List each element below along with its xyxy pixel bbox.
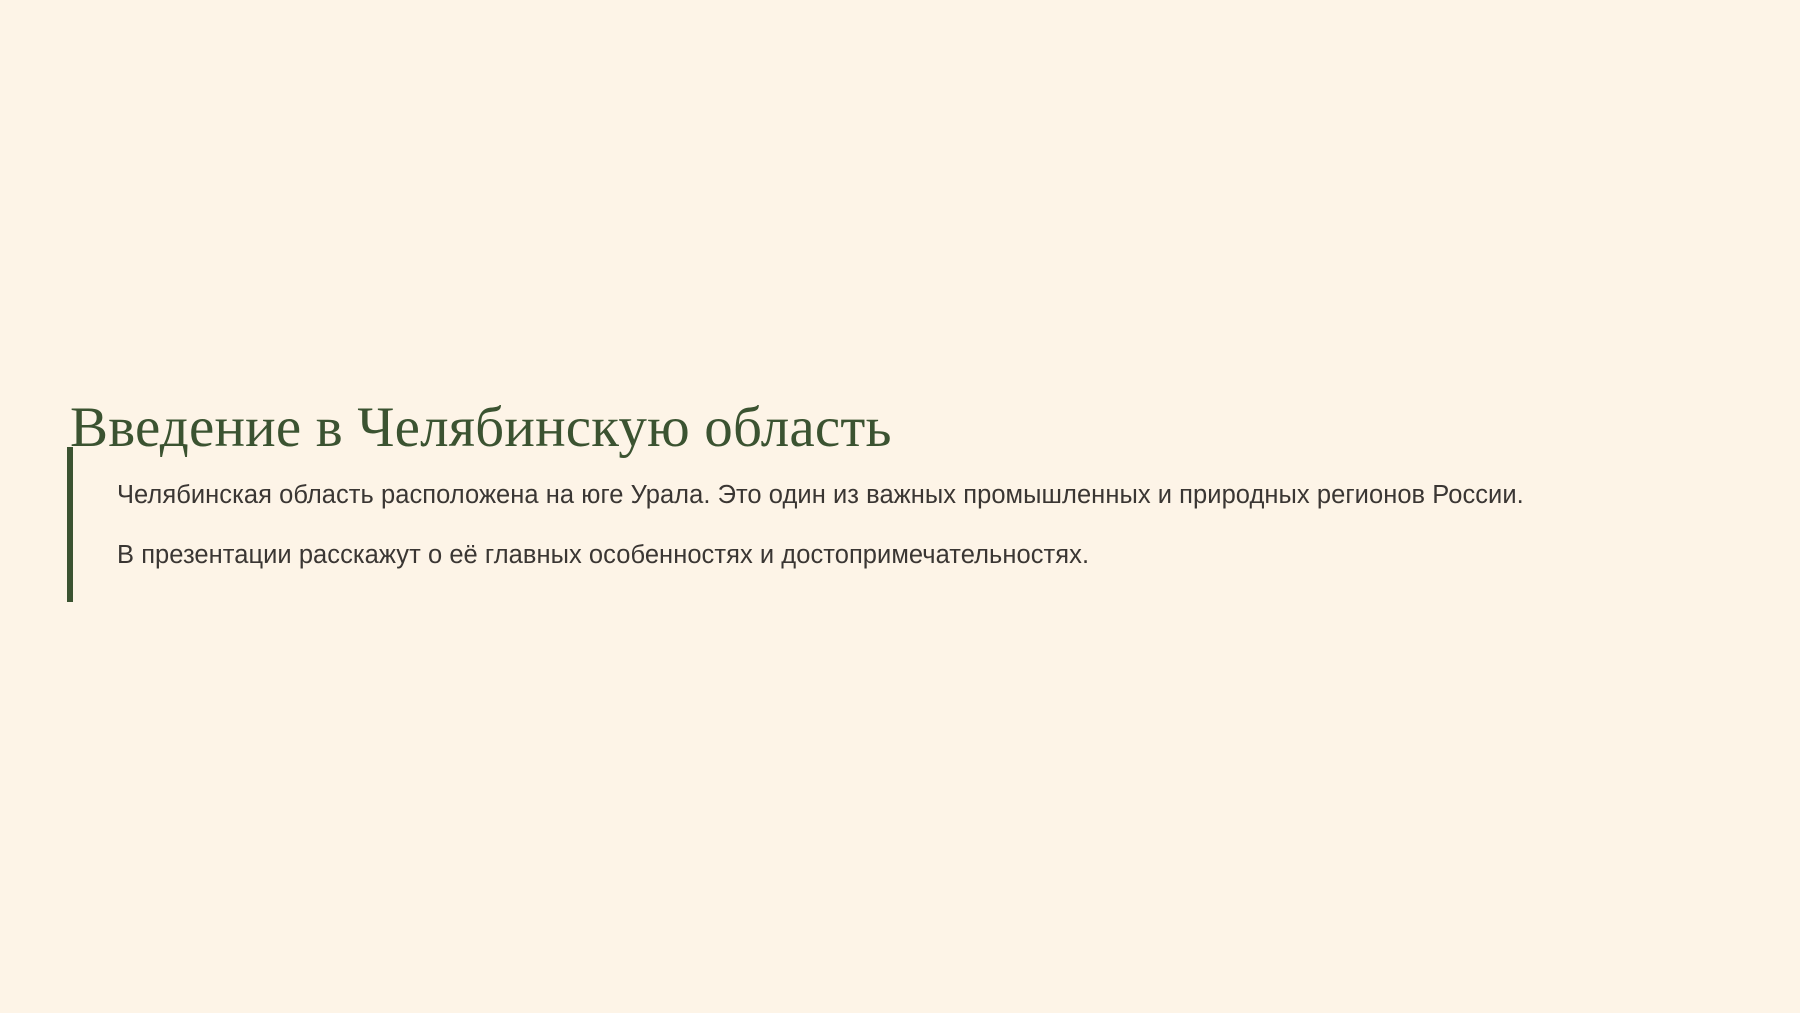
- body-paragraph: Челябинская область расположена на юге У…: [117, 465, 1527, 585]
- body-text-container: Челябинская область расположена на юге У…: [73, 447, 1527, 602]
- body-callout-block: Челябинская область расположена на юге У…: [67, 447, 1527, 602]
- slide-canvas: Введение в Челябинскую область Челябинск…: [0, 0, 1800, 1013]
